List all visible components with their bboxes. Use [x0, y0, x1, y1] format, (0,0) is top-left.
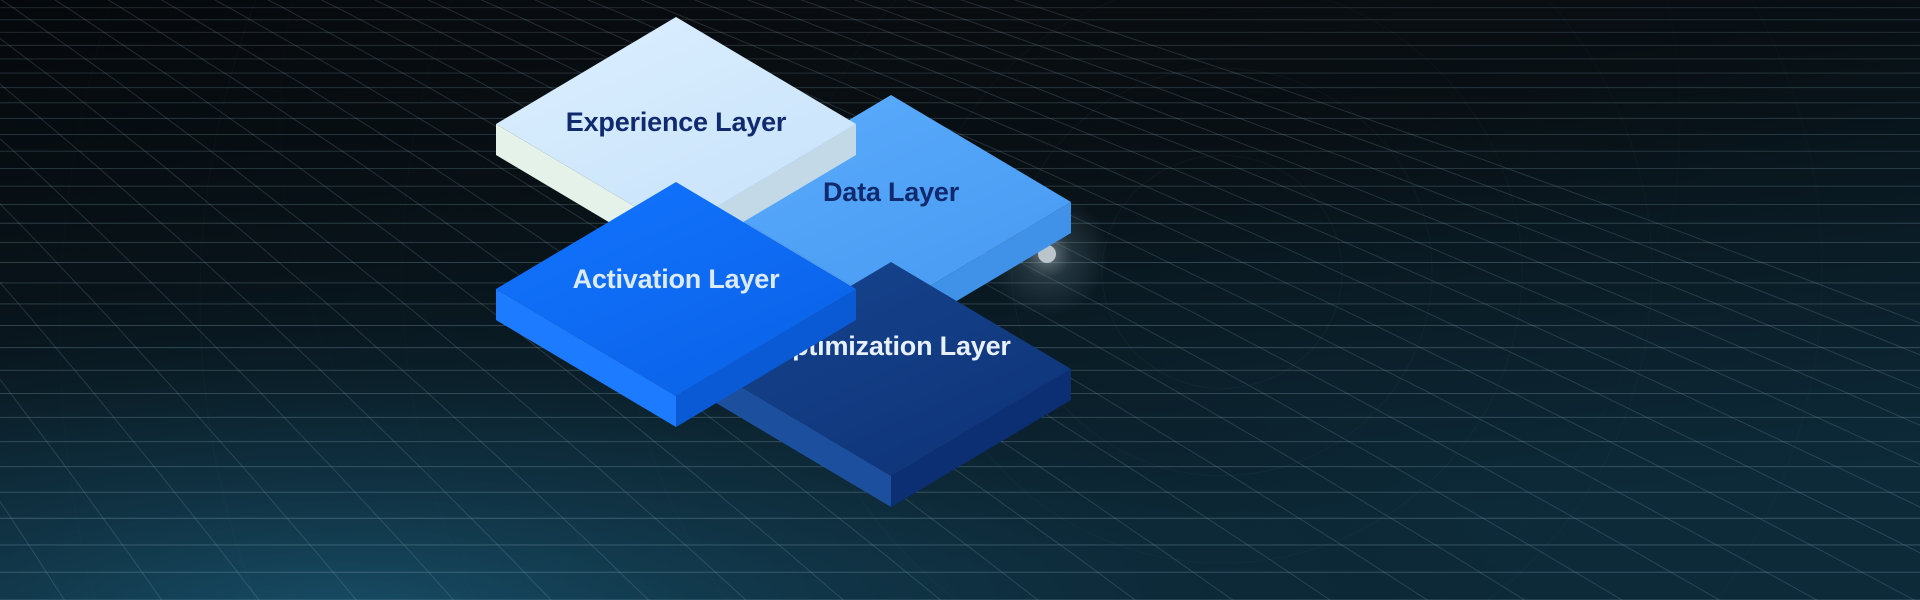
layer-stack-diagram: Data LayerExperience LayerOptimization L… [0, 0, 1920, 600]
layer-label-experience: Experience Layer [566, 107, 787, 137]
layer-label-activation: Activation Layer [573, 264, 781, 294]
hero-banner: Data LayerExperience LayerOptimization L… [0, 0, 1920, 600]
layer-label-data: Data Layer [823, 177, 960, 207]
